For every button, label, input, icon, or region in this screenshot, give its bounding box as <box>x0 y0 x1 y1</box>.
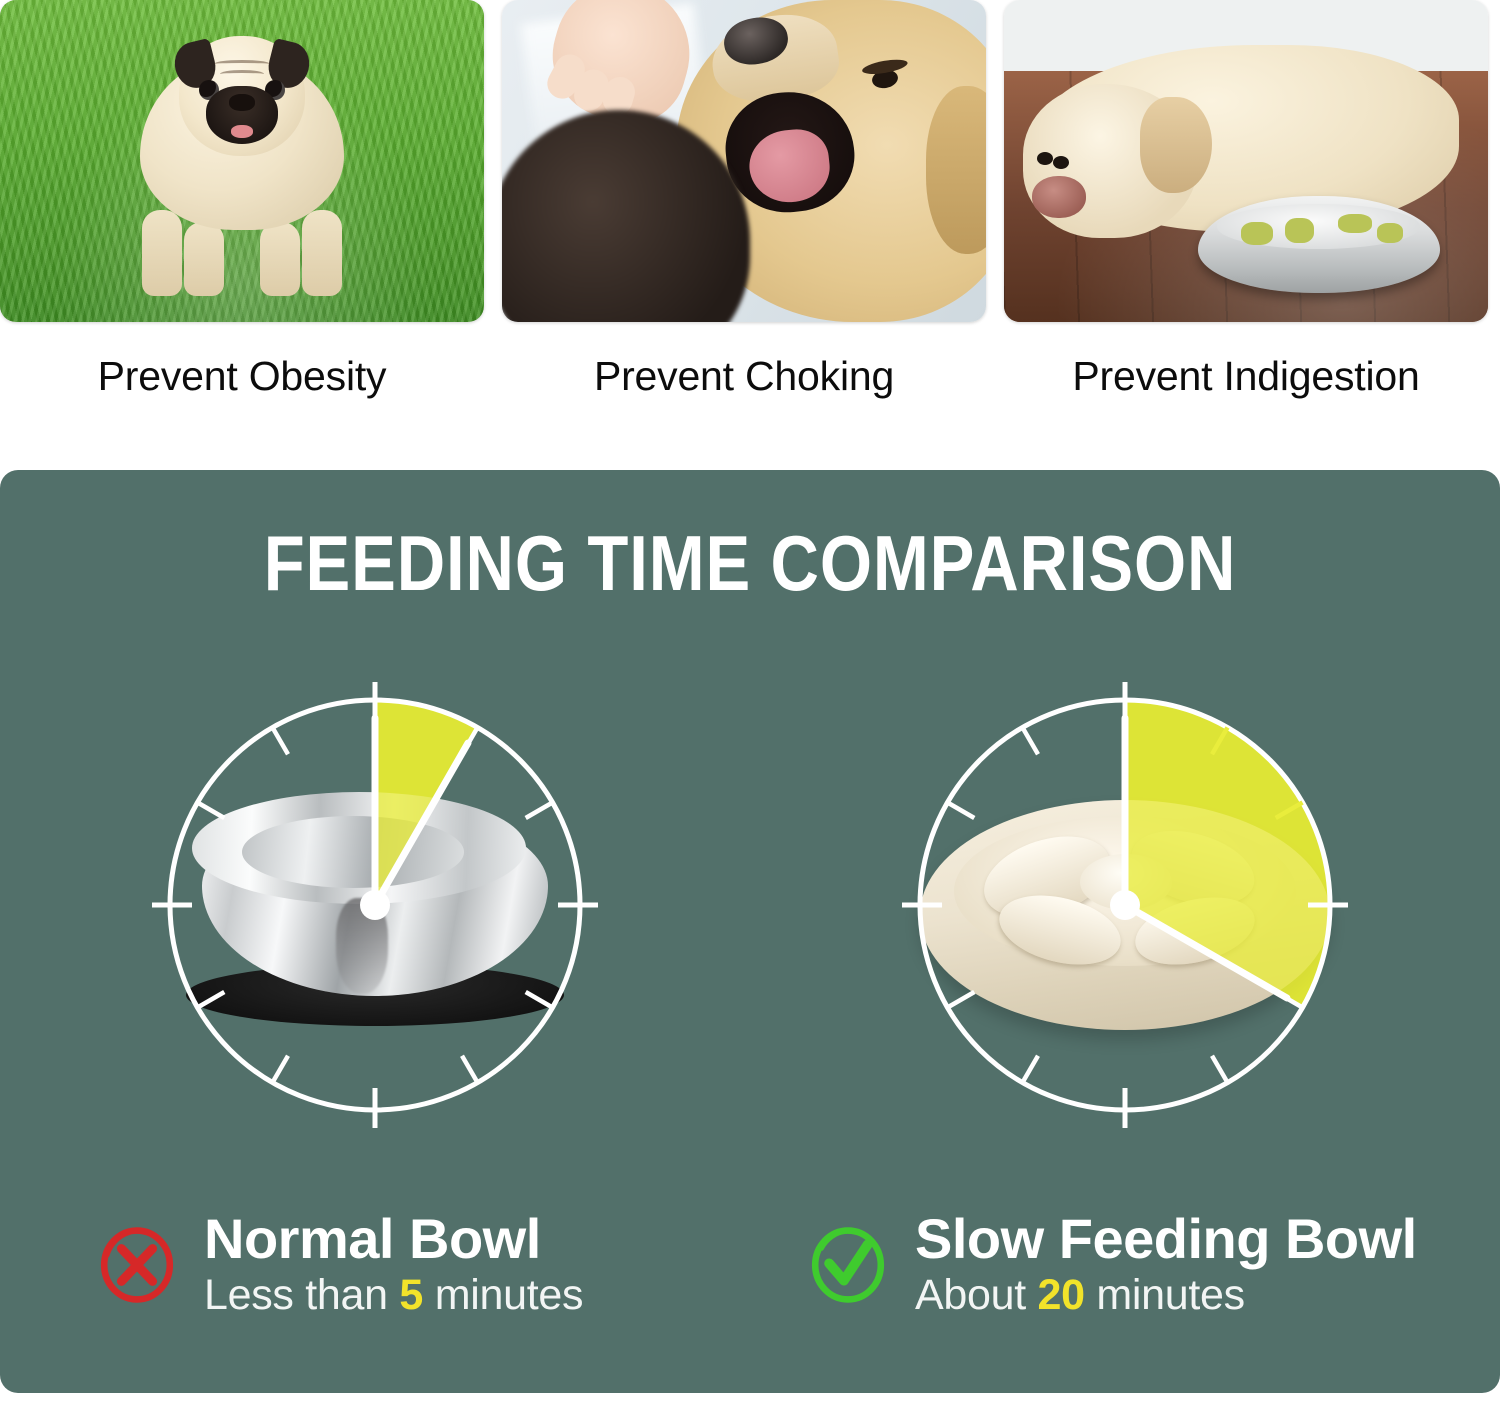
clock-comparison-row <box>0 670 1500 1140</box>
steel-bowl-photo <box>1198 196 1440 293</box>
choking-photo <box>502 0 986 322</box>
result-title-normal: Normal Bowl <box>204 1209 583 1268</box>
indigestion-photo <box>1004 0 1488 322</box>
clock-dial-slow-bowl <box>890 670 1360 1140</box>
result-row: Normal Bowl Less than 5 minutes Slow Fee… <box>0 1195 1500 1335</box>
clock-column-normal-bowl <box>0 670 750 1140</box>
benefit-caption-obesity: Prevent Obesity <box>0 356 484 397</box>
result-normal-bowl: Normal Bowl Less than 5 minutes <box>0 1195 789 1335</box>
result-slow-bowl: Slow Feeding Bowl About 20 minutes <box>789 1195 1500 1335</box>
panel-title: FEEDING TIME COMPARISON <box>105 518 1395 609</box>
result-subtitle-normal: Less than 5 minutes <box>204 1271 583 1321</box>
pug-photo <box>0 0 484 322</box>
benefit-card-obesity: Prevent Obesity <box>0 0 484 432</box>
pug-illustration <box>122 28 362 296</box>
result-title-slow: Slow Feeding Bowl <box>915 1209 1417 1268</box>
comparison-panel: FEEDING TIME COMPARISON <box>0 470 1500 1393</box>
benefit-caption-choking: Prevent Choking <box>502 356 986 397</box>
x-mark-circle-icon <box>96 1224 178 1306</box>
infographic-page: Prevent Obesity <box>0 0 1500 1405</box>
benefit-photo-strip: Prevent Obesity <box>0 0 1500 432</box>
clock-column-slow-bowl <box>750 670 1500 1140</box>
result-sub-suffix-slow: minutes <box>1085 1271 1245 1319</box>
benefit-caption-indigestion: Prevent Indigestion <box>1004 356 1488 397</box>
clock-dial-normal-bowl <box>140 670 610 1140</box>
benefit-card-indigestion: Prevent Indigestion <box>1004 0 1488 432</box>
result-subtitle-slow: About 20 minutes <box>915 1271 1417 1321</box>
result-sub-prefix-normal: Less than <box>204 1271 399 1319</box>
benefit-card-choking: Prevent Choking <box>502 0 986 432</box>
clock-face-slow <box>890 670 1360 1140</box>
result-sub-value-normal: 5 <box>399 1271 423 1319</box>
check-mark-circle-icon <box>807 1224 889 1306</box>
clock-face-normal <box>140 670 610 1140</box>
result-sub-value-slow: 20 <box>1038 1271 1085 1319</box>
result-sub-prefix-slow: About <box>915 1271 1038 1319</box>
result-sub-suffix-normal: minutes <box>423 1271 583 1319</box>
